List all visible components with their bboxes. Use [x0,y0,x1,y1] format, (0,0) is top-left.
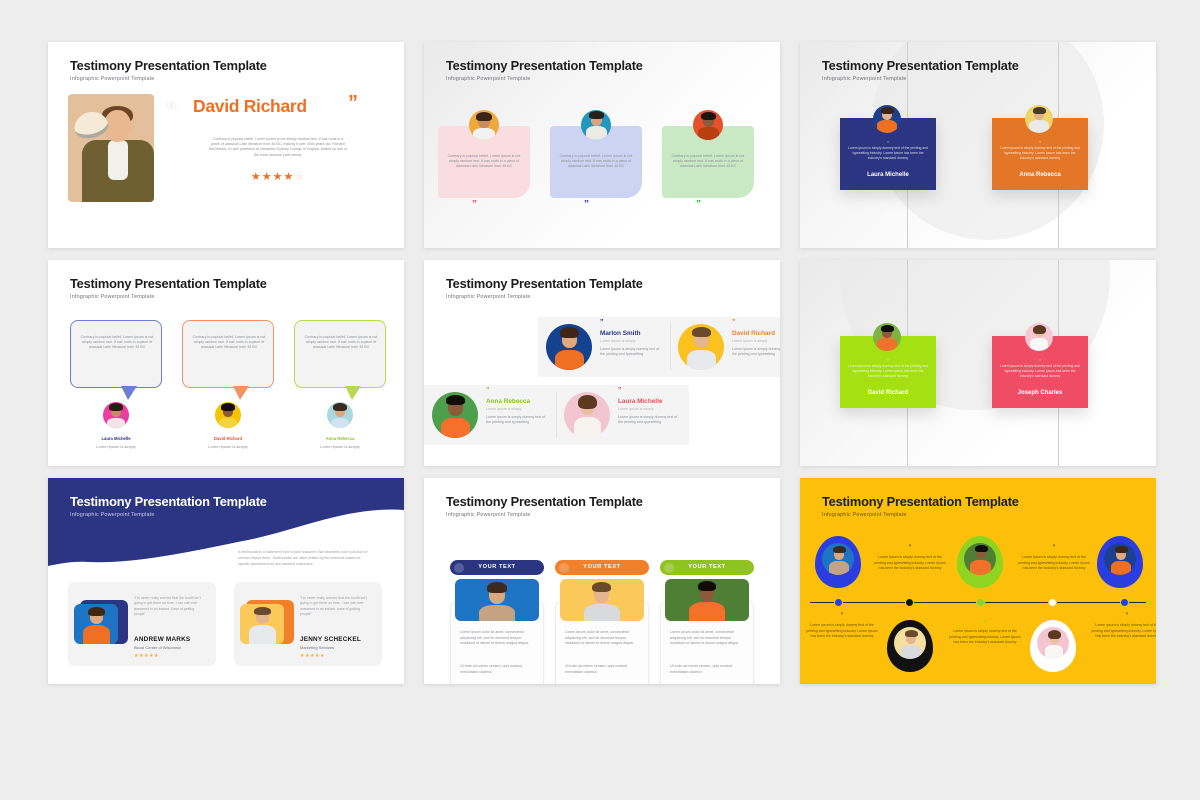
slide-thumbnail-6[interactable]: ” Lorem ipsum is simply dummy text of th… [800,260,1156,466]
person-role: Marketing Services [300,645,334,650]
bubble-text: Contrary to popular belief, Lorem ipsum … [191,335,267,351]
card-text: Contrary to popular belief, Lorem ipsum … [670,154,746,170]
column-text-2: Ut enim ad minim veniam, quis nostrud ex… [670,664,746,675]
speech-bubble[interactable]: Contrary to popular belief, Lorem ipsum … [182,320,274,388]
avatar [693,110,723,140]
column-header-pill[interactable]: YOUR TEXT [660,560,754,575]
person-name: Laura Michelle [618,398,662,405]
person-name: David Richard [840,390,936,396]
testimonial-card[interactable]: ” Lorem ipsum is simply dummy text of th… [840,118,936,190]
avatar [327,402,353,428]
testimonial-card[interactable]: ” Lorem ipsum is simply dummy text of th… [992,336,1088,408]
slide-thumbnail-1[interactable]: Testimony Presentation Template Infograp… [48,42,404,248]
slide-subtitle: Infographic Powerpoint Template [70,76,155,82]
timeline-pin[interactable] [815,536,861,588]
testimonial-card[interactable]: "I'm never really worried that the booth… [234,582,382,666]
quote-icon: • [948,618,1022,627]
column-label: YOUR TEXT [660,560,754,575]
quote-icon: ” [600,319,604,326]
item-text: Lorem ipsum is simply dummy text of the … [618,415,680,426]
quote-icon: ” [840,358,936,363]
timeline-text: ”Lorem ipsum is simply dummy text of the… [805,612,879,640]
column-text-1: Lorem ipsum dolor sit amet, consectetur … [565,630,641,647]
slide-title: Testimony Presentation Template [70,58,267,73]
slide-thumbnail-2[interactable]: Testimony Presentation Template Infograp… [424,42,780,248]
timeline-text-body: Lorem ipsum is simply dummy text of the … [806,623,877,638]
person-photo [1037,627,1069,659]
column-text-2: Ut enim ad minim veniam, quis nostrud ex… [565,664,641,675]
person-role: Lorem ipsum is simply [294,444,386,449]
card-text: Contrary to popular belief, Lorem ipsum … [558,154,634,170]
quote-icon: ” [1017,544,1091,553]
column-text-1: Lorem ipsum dolor sit amet, consectetur … [460,630,536,647]
avatar [546,324,592,370]
quote-icon: ” [992,358,1088,363]
quote-icon: ” [840,140,936,145]
person-role: Lorem ipsum is simply [182,444,274,449]
quote-icon: ” [992,140,1088,145]
avatar [678,324,724,370]
timeline-text: ”Lorem ipsum is simply dummy text of the… [1017,544,1091,572]
testimonial-text: Contrary to popular belief, Lorem ipsum … [208,137,348,158]
speech-bubble[interactable]: Contrary to popular belief, Lorem ipsum … [70,320,162,388]
quote-icon: ” [486,387,490,394]
testimonial-card[interactable]: Contrary to popular belief, Lorem ipsum … [438,126,530,198]
person-name: Marlon Smith [600,330,640,337]
slide-subtitle: Infographic Powerpoint Template [446,76,531,82]
intro-paragraph: A testimonial is a statement from a past… [238,550,373,567]
timeline-node [834,598,843,607]
slide-thumbnail-9[interactable]: Testimony Presentation Template Infograp… [800,478,1156,684]
avatar [581,110,611,140]
slide-subtitle: Infographic Powerpoint Template [822,76,907,82]
person-photo [894,627,926,659]
person-name: David Richard [193,96,307,117]
rating-stars: ★★★★★ [300,653,325,659]
person-name: David Richard [732,330,775,337]
slide-grid: Testimony Presentation Template Infograp… [48,42,1156,688]
person-name: Laura Michelle [840,172,936,178]
slide-title: Testimony Presentation Template [446,276,643,291]
quote-text: "I'm never really worried that the booth… [300,596,372,617]
person-name: David Richard [182,436,274,441]
quote-icon: ” [1090,612,1156,621]
person-photo [455,579,539,621]
slide-thumbnail-3[interactable]: Testimony Presentation Template Infograp… [800,42,1156,248]
person-photo [68,94,154,202]
avatar [103,402,129,428]
timeline-pin[interactable] [1097,536,1143,588]
column-label: YOUR TEXT [555,560,649,575]
quote-open-icon: ” [166,98,177,124]
card-text: Lorem ipsum is simply dummy text of the … [847,146,929,161]
person-photo [240,604,284,644]
avatar [564,392,610,438]
quote-icon: ” [618,387,622,394]
person-photo [665,579,749,621]
testimonial-item[interactable]: ” Marlon Smith Lorem ipsum is simply Lor… [546,320,664,374]
avatar [469,110,499,140]
bubble-text: Contrary to popular belief, Lorem ipsum … [303,335,379,351]
quote-icon: ” [805,612,879,621]
testimonial-card[interactable]: Contrary to popular belief, Lorem ipsum … [550,126,642,198]
timeline-pin[interactable] [1030,620,1076,672]
column-header-pill[interactable]: YOUR TEXT [555,560,649,575]
slide-thumbnail-7[interactable]: Testimony Presentation Template Infograp… [48,478,404,684]
timeline-text-body: Lorem ipsum is simply dummy text of the … [1018,555,1089,570]
quote-close-icon: ” [348,92,358,115]
card-text: Contrary to popular belief, Lorem ipsum … [446,154,522,170]
timeline-pin[interactable] [957,536,1003,588]
person-role: Blood Center of Wisconsin [134,645,181,650]
person-role: Lorem ipsum is simply [70,444,162,449]
speech-bubble[interactable]: Contrary to popular belief, Lorem ipsum … [294,320,386,388]
person-name: JENNY SCHECKEL [300,636,361,643]
timeline-node [976,598,985,607]
timeline-text: ”Lorem ipsum is simply dummy text of the… [873,544,947,572]
testimonial-item[interactable]: ” Anna Rebecca Lorem ipsum is simply Lor… [432,388,550,442]
quote-icon: ” [696,199,701,210]
testimonial-card[interactable]: Contrary to popular belief, Lorem ipsum … [662,126,754,198]
quote-text: "I'm never really worried that the booth… [134,596,206,617]
card-text: Lorem ipsum is simply dummy text of the … [847,364,929,379]
avatar [1025,323,1053,351]
slide-subtitle: Infographic Powerpoint Template [446,294,531,300]
item-text: Lorem ipsum is simply dummy text of the … [732,347,780,358]
rating-stars: ★★★★☆ [208,170,348,183]
slide-title: Testimony Presentation Template [70,276,267,291]
testimonial-card[interactable]: ” Lorem ipsum is simply dummy text of th… [992,118,1088,190]
column-label: YOUR TEXT [450,560,544,575]
quote-icon: ” [873,544,947,553]
slide-title: Testimony Presentation Template [70,494,267,509]
bubble-text: Contrary to popular belief, Lorem ipsum … [79,335,155,351]
card-text: Lorem ipsum is simply dummy text of the … [999,146,1081,161]
avatar [873,323,901,351]
timeline-text: •Lorem ipsum is simply dummy text of the… [948,618,1022,646]
quote-icon: ” [732,319,736,326]
item-text: Lorem ipsum is simply dummy text of the … [486,415,548,426]
avatar [873,105,901,133]
person-role: Lorem ipsum is simply [600,339,636,343]
testimonial-item[interactable]: ” David Richard Lorem ipsum is simply Lo… [678,320,780,374]
thumbnail-board: Testimony Presentation Template Infograp… [0,0,1200,800]
slide-subtitle: Infographic Powerpoint Template [70,512,155,518]
slide-title: Testimony Presentation Template [822,494,1019,509]
column-header-pill[interactable]: YOUR TEXT [450,560,544,575]
slide-title: Testimony Presentation Template [446,58,643,73]
timeline-node [1048,598,1057,607]
slide-subtitle: Infographic Powerpoint Template [446,512,531,518]
person-name: Anna Rebecca [992,172,1088,178]
person-role: Lorem ipsum is simply [486,407,522,411]
slide-thumbnail-5[interactable]: Testimony Presentation Template Infograp… [424,260,780,466]
person-name: Anna Rebecca [294,436,386,441]
person-role: Lorem ipsum is simply [618,407,654,411]
person-photo [964,543,996,575]
timeline-pin[interactable] [887,620,933,672]
column-text-1: Lorem ipsum dolor sit amet, consectetur … [670,630,746,647]
avatar [215,402,241,428]
person-photo [1104,543,1136,575]
timeline-text-body: Lorem ipsum is simply dummy text of the … [1091,623,1156,638]
testimonial-card[interactable]: "I'm never really worried that the booth… [68,582,216,666]
slide-thumbnail-8[interactable]: Testimony Presentation Template Infograp… [424,478,780,684]
person-name: Joseph Charles [992,390,1088,396]
avatar [432,392,478,438]
testimonial-card[interactable]: ” Lorem ipsum is simply dummy text of th… [840,336,936,408]
person-photo [74,604,118,644]
column-text-2: Ut enim ad minim veniam, quis nostrud ex… [460,664,536,675]
quote-icon: ” [472,199,477,210]
person-name: Laura Michelle [70,436,162,441]
timeline-node [1120,598,1129,607]
quote-icon: ” [584,199,589,210]
timeline-text-body: Lorem ipsum is simply dummy text of the … [874,555,945,570]
slide-title: Testimony Presentation Template [822,58,1019,73]
timeline-text-body: Lorem ipsum is simply dummy text of the … [949,629,1020,644]
testimonial-item[interactable]: ” Laura Michelle Lorem ipsum is simply L… [564,388,682,442]
timeline-text: ”Lorem ipsum is simply dummy text of the… [1090,612,1156,640]
timeline-node [905,598,914,607]
person-photo [560,579,644,621]
slide-thumbnail-4[interactable]: Testimony Presentation Template Infograp… [48,260,404,466]
person-name: ANDREW MARKS [134,636,190,643]
card-text: Lorem ipsum is simply dummy text of the … [999,364,1081,379]
person-name: Anna Rebecca [486,398,530,405]
slide-subtitle: Infographic Powerpoint Template [822,512,907,518]
person-role: Lorem ipsum is simply [732,339,768,343]
avatar [1025,105,1053,133]
rating-stars: ★★★★★ [134,653,159,659]
item-text: Lorem ipsum is simply dummy text of the … [600,347,662,358]
slide-title: Testimony Presentation Template [446,494,643,509]
slide-subtitle: Infographic Powerpoint Template [70,294,155,300]
person-photo [822,543,854,575]
